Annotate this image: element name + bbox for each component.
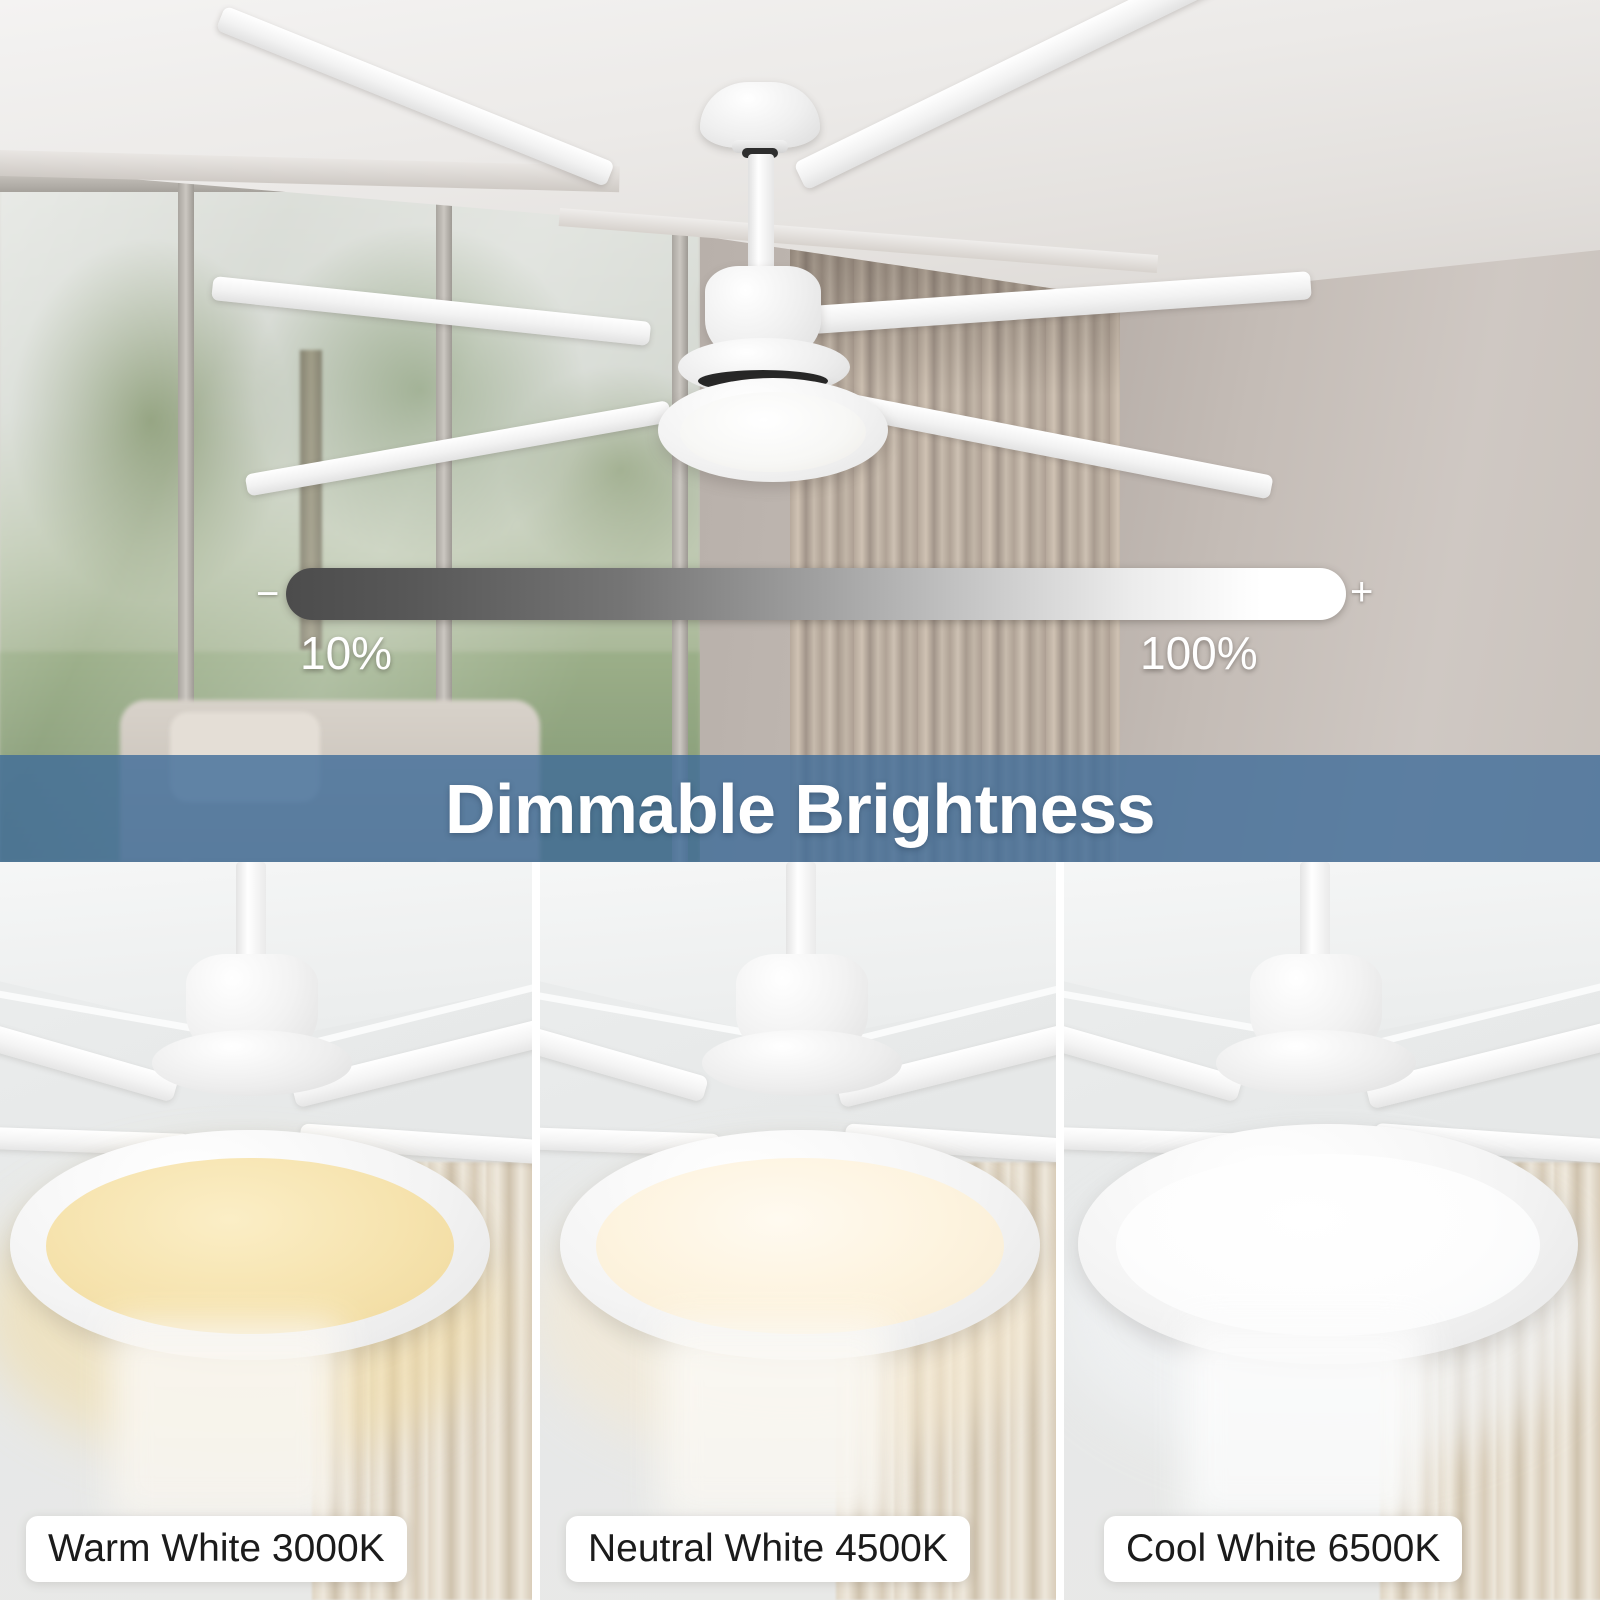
temperature-label: Warm White 3000K xyxy=(48,1527,385,1570)
panel-warm-white: Warm White 3000K xyxy=(0,862,532,1600)
plus-icon[interactable]: + xyxy=(1350,566,1373,618)
color-temperature-comparison: Warm White 3000K Neutral White 4500K xyxy=(0,862,1600,1600)
slider-min-label: 10% xyxy=(300,626,392,680)
light-spill xyxy=(660,1322,890,1522)
ceiling-canopy xyxy=(700,82,820,148)
temperature-badge: Warm White 3000K xyxy=(26,1516,407,1582)
panel-neutral-white: Neutral White 4500K xyxy=(540,862,1056,1600)
panel-cool-white: Cool White 6500K xyxy=(1064,862,1600,1600)
light-spill xyxy=(110,1322,340,1522)
light-kit-lens xyxy=(596,1158,1004,1334)
temperature-badge: Cool White 6500K xyxy=(1104,1516,1462,1582)
motor-base xyxy=(702,1030,902,1096)
temperature-label: Cool White 6500K xyxy=(1126,1527,1440,1570)
downrod xyxy=(748,154,774,274)
brightness-slider[interactable]: − + 10% 100% xyxy=(256,560,1376,680)
slider-max-label: 100% xyxy=(1140,626,1258,680)
light-kit-lens xyxy=(46,1158,454,1334)
banner-title: Dimmable Brightness xyxy=(445,769,1155,849)
minus-icon[interactable]: − xyxy=(256,568,279,620)
light-spill xyxy=(1184,1324,1424,1524)
temperature-label: Neutral White 4500K xyxy=(588,1527,948,1570)
light-kit-lens xyxy=(680,392,866,472)
room-scene-photo: − + 10% 100% Dimmable Brightness xyxy=(0,0,1600,862)
fan-blade xyxy=(811,271,1312,334)
product-infographic: − + 10% 100% Dimmable Brightness xyxy=(0,0,1600,1600)
slider-track[interactable] xyxy=(286,568,1346,620)
temperature-badge: Neutral White 4500K xyxy=(566,1516,970,1582)
fan-blade xyxy=(0,1011,179,1102)
motor-base xyxy=(152,1030,352,1096)
feature-banner: Dimmable Brightness xyxy=(0,755,1600,862)
fan-blade xyxy=(1064,1011,1243,1102)
ceiling-fan xyxy=(360,70,1360,540)
motor-base xyxy=(1216,1030,1416,1096)
light-kit-lens xyxy=(1116,1154,1540,1336)
